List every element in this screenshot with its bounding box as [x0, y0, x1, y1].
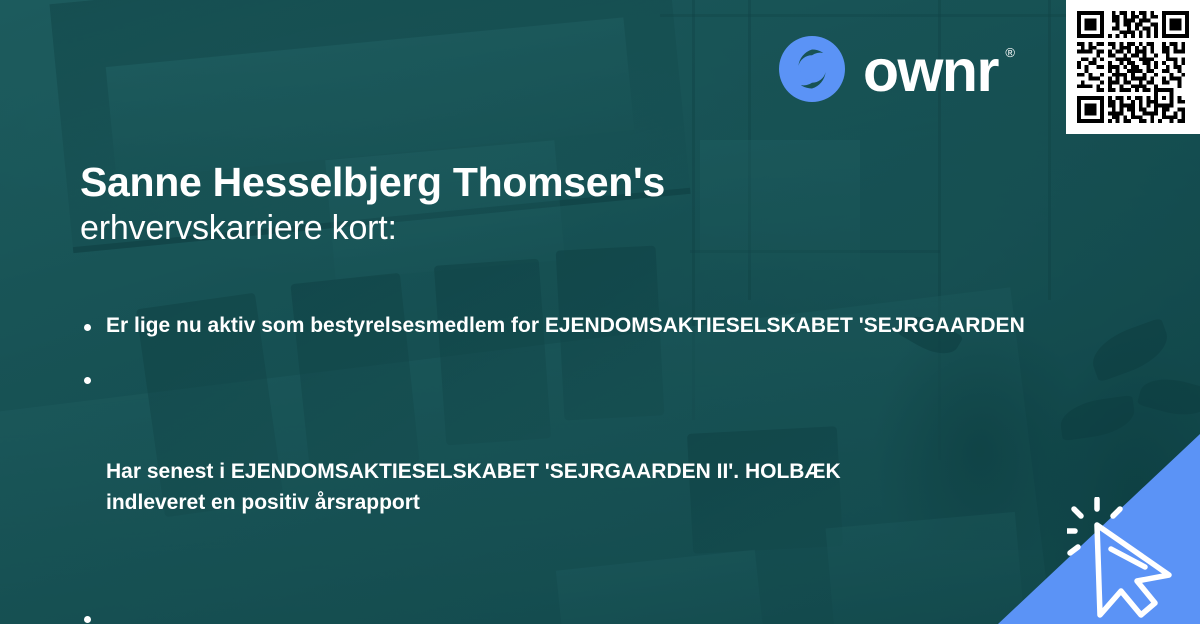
qr-code-panel[interactable]: [1066, 0, 1200, 134]
ownr-logo[interactable]: ownr ®: [779, 36, 998, 107]
career-summary-card: ownr ®: [0, 0, 1200, 624]
list-item-text: Har senest i EJENDOMSAKTIESELSKABET 'SEJ…: [106, 456, 1200, 518]
bullet-dot-icon: [84, 324, 91, 331]
ownr-circle-swoosh-icon: [779, 36, 845, 107]
title-line-1: Sanne Hesselbjerg Thomsen's: [80, 158, 1180, 206]
list-item: Arbejder indenfor branchen Administratio…: [80, 603, 1200, 624]
ownr-wordmark-text: ownr: [863, 38, 998, 104]
list-item: Er lige nu aktiv som bestyrelsesmedlem f…: [80, 310, 1200, 341]
page-title: Sanne Hesselbjerg Thomsen's erhvervskarr…: [80, 158, 1180, 251]
list-item-text: Er lige nu aktiv som bestyrelsesmedlem f…: [106, 310, 1200, 341]
career-highlights-list: Er lige nu aktiv som bestyrelsesmedlem f…: [80, 310, 1200, 624]
title-line-2: erhvervskarriere kort:: [80, 206, 1180, 250]
bullet-dot-icon: [84, 616, 91, 623]
ownr-wordmark: ownr ®: [863, 42, 998, 101]
bullet-dot-icon: [84, 377, 91, 384]
registered-trademark-icon: ®: [1005, 46, 1015, 59]
list-item: Har senest i EJENDOMSAKTIESELSKABET 'SEJ…: [80, 363, 1200, 581]
qr-code[interactable]: [1077, 11, 1189, 123]
